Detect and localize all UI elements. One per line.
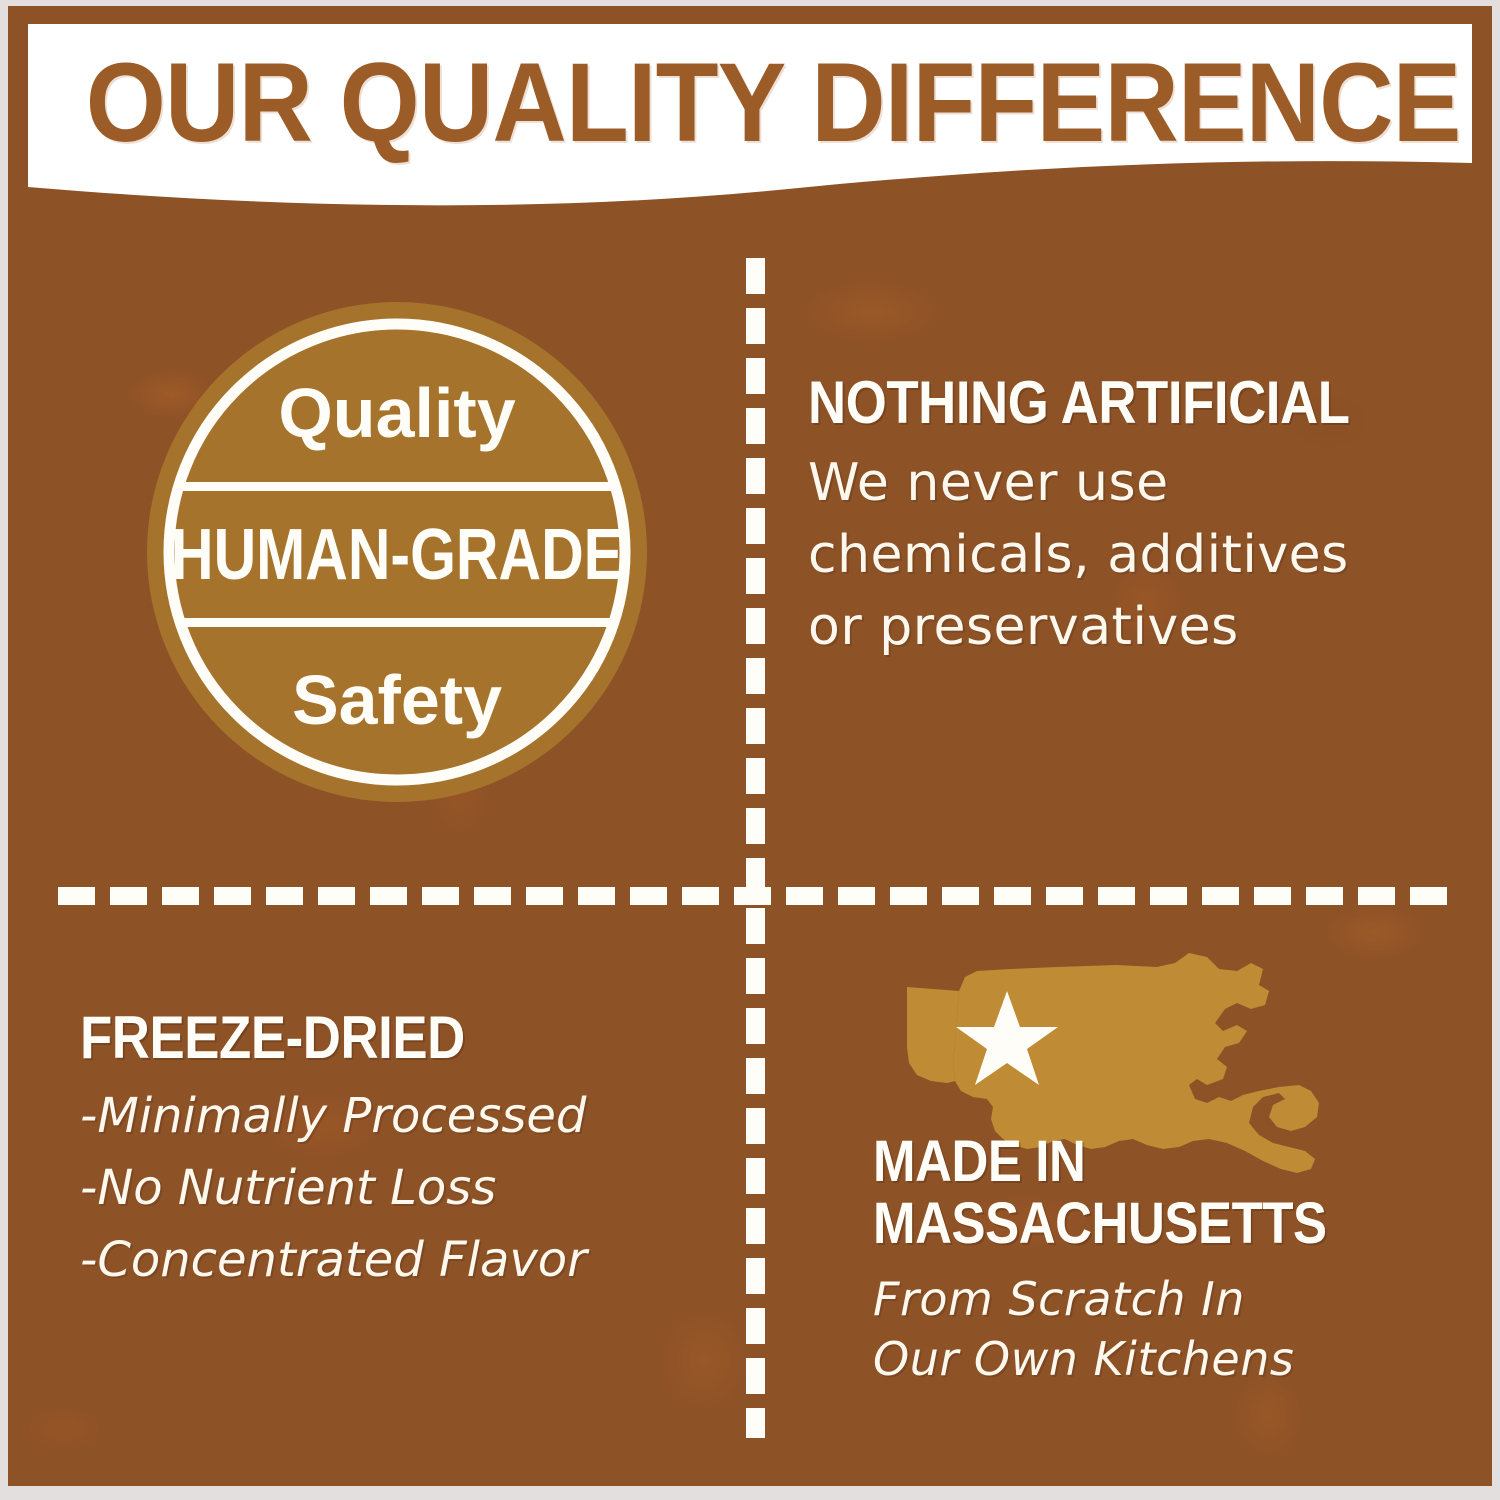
nothing-artificial-heading: NOTHING ARTIFICIAL bbox=[808, 371, 1371, 435]
infographic-canvas: OUR QUALITY DIFFERENCE Quality HUMAN-GRA… bbox=[0, 0, 1500, 1500]
freeze-dried-benefit-list: -Minimally Processed -No Nutrient Loss -… bbox=[80, 1080, 700, 1296]
header-wave-divider bbox=[28, 151, 1472, 239]
freeze-dried-heading: FREEZE-DRIED bbox=[80, 1006, 626, 1070]
body-line: Our Own Kitchens bbox=[873, 1329, 1433, 1389]
page-title: OUR QUALITY DIFFERENCE bbox=[86, 44, 1414, 162]
quadrant-nothing-artificial: NOTHING ARTIFICIAL We never use chemical… bbox=[808, 371, 1448, 663]
made-in-massachusetts-text: MADE IN MASSACHUSETTS From Scratch In Ou… bbox=[873, 1131, 1433, 1389]
dashed-vertical-divider bbox=[746, 258, 765, 1438]
list-item: -Minimally Processed bbox=[80, 1080, 700, 1152]
list-item: -No Nutrient Loss bbox=[80, 1152, 700, 1224]
nothing-artificial-body: We never use chemicals, additives or pre… bbox=[808, 447, 1448, 663]
made-in-heading-line-2: MASSACHUSETTS bbox=[873, 1193, 1366, 1255]
seal-center-label: HUMAN-GRADE bbox=[171, 515, 623, 595]
body-line: or preservatives bbox=[808, 591, 1448, 663]
made-in-heading-line-1: MADE IN bbox=[873, 1131, 1366, 1193]
card-frame: OUR QUALITY DIFFERENCE Quality HUMAN-GRA… bbox=[8, 6, 1492, 1486]
body-line: We never use bbox=[808, 447, 1448, 519]
body-line: From Scratch In bbox=[873, 1269, 1433, 1329]
seal-top-label: Quality bbox=[278, 374, 515, 452]
quadrant-freeze-dried: FREEZE-DRIED -Minimally Processed -No Nu… bbox=[80, 1006, 700, 1296]
made-in-body: From Scratch In Our Own Kitchens bbox=[873, 1269, 1433, 1389]
card-bottom-edge bbox=[0, 1486, 1500, 1500]
made-in-heading: MADE IN MASSACHUSETTS bbox=[873, 1131, 1366, 1255]
list-item: -Concentrated Flavor bbox=[80, 1224, 700, 1296]
dashed-horizontal-divider bbox=[58, 887, 1450, 905]
seal-bottom-label: Safety bbox=[292, 661, 502, 739]
human-grade-seal: Quality HUMAN-GRADE Safety bbox=[139, 294, 655, 810]
body-line: chemicals, additives bbox=[808, 519, 1448, 591]
header-panel: OUR QUALITY DIFFERENCE bbox=[28, 24, 1472, 239]
